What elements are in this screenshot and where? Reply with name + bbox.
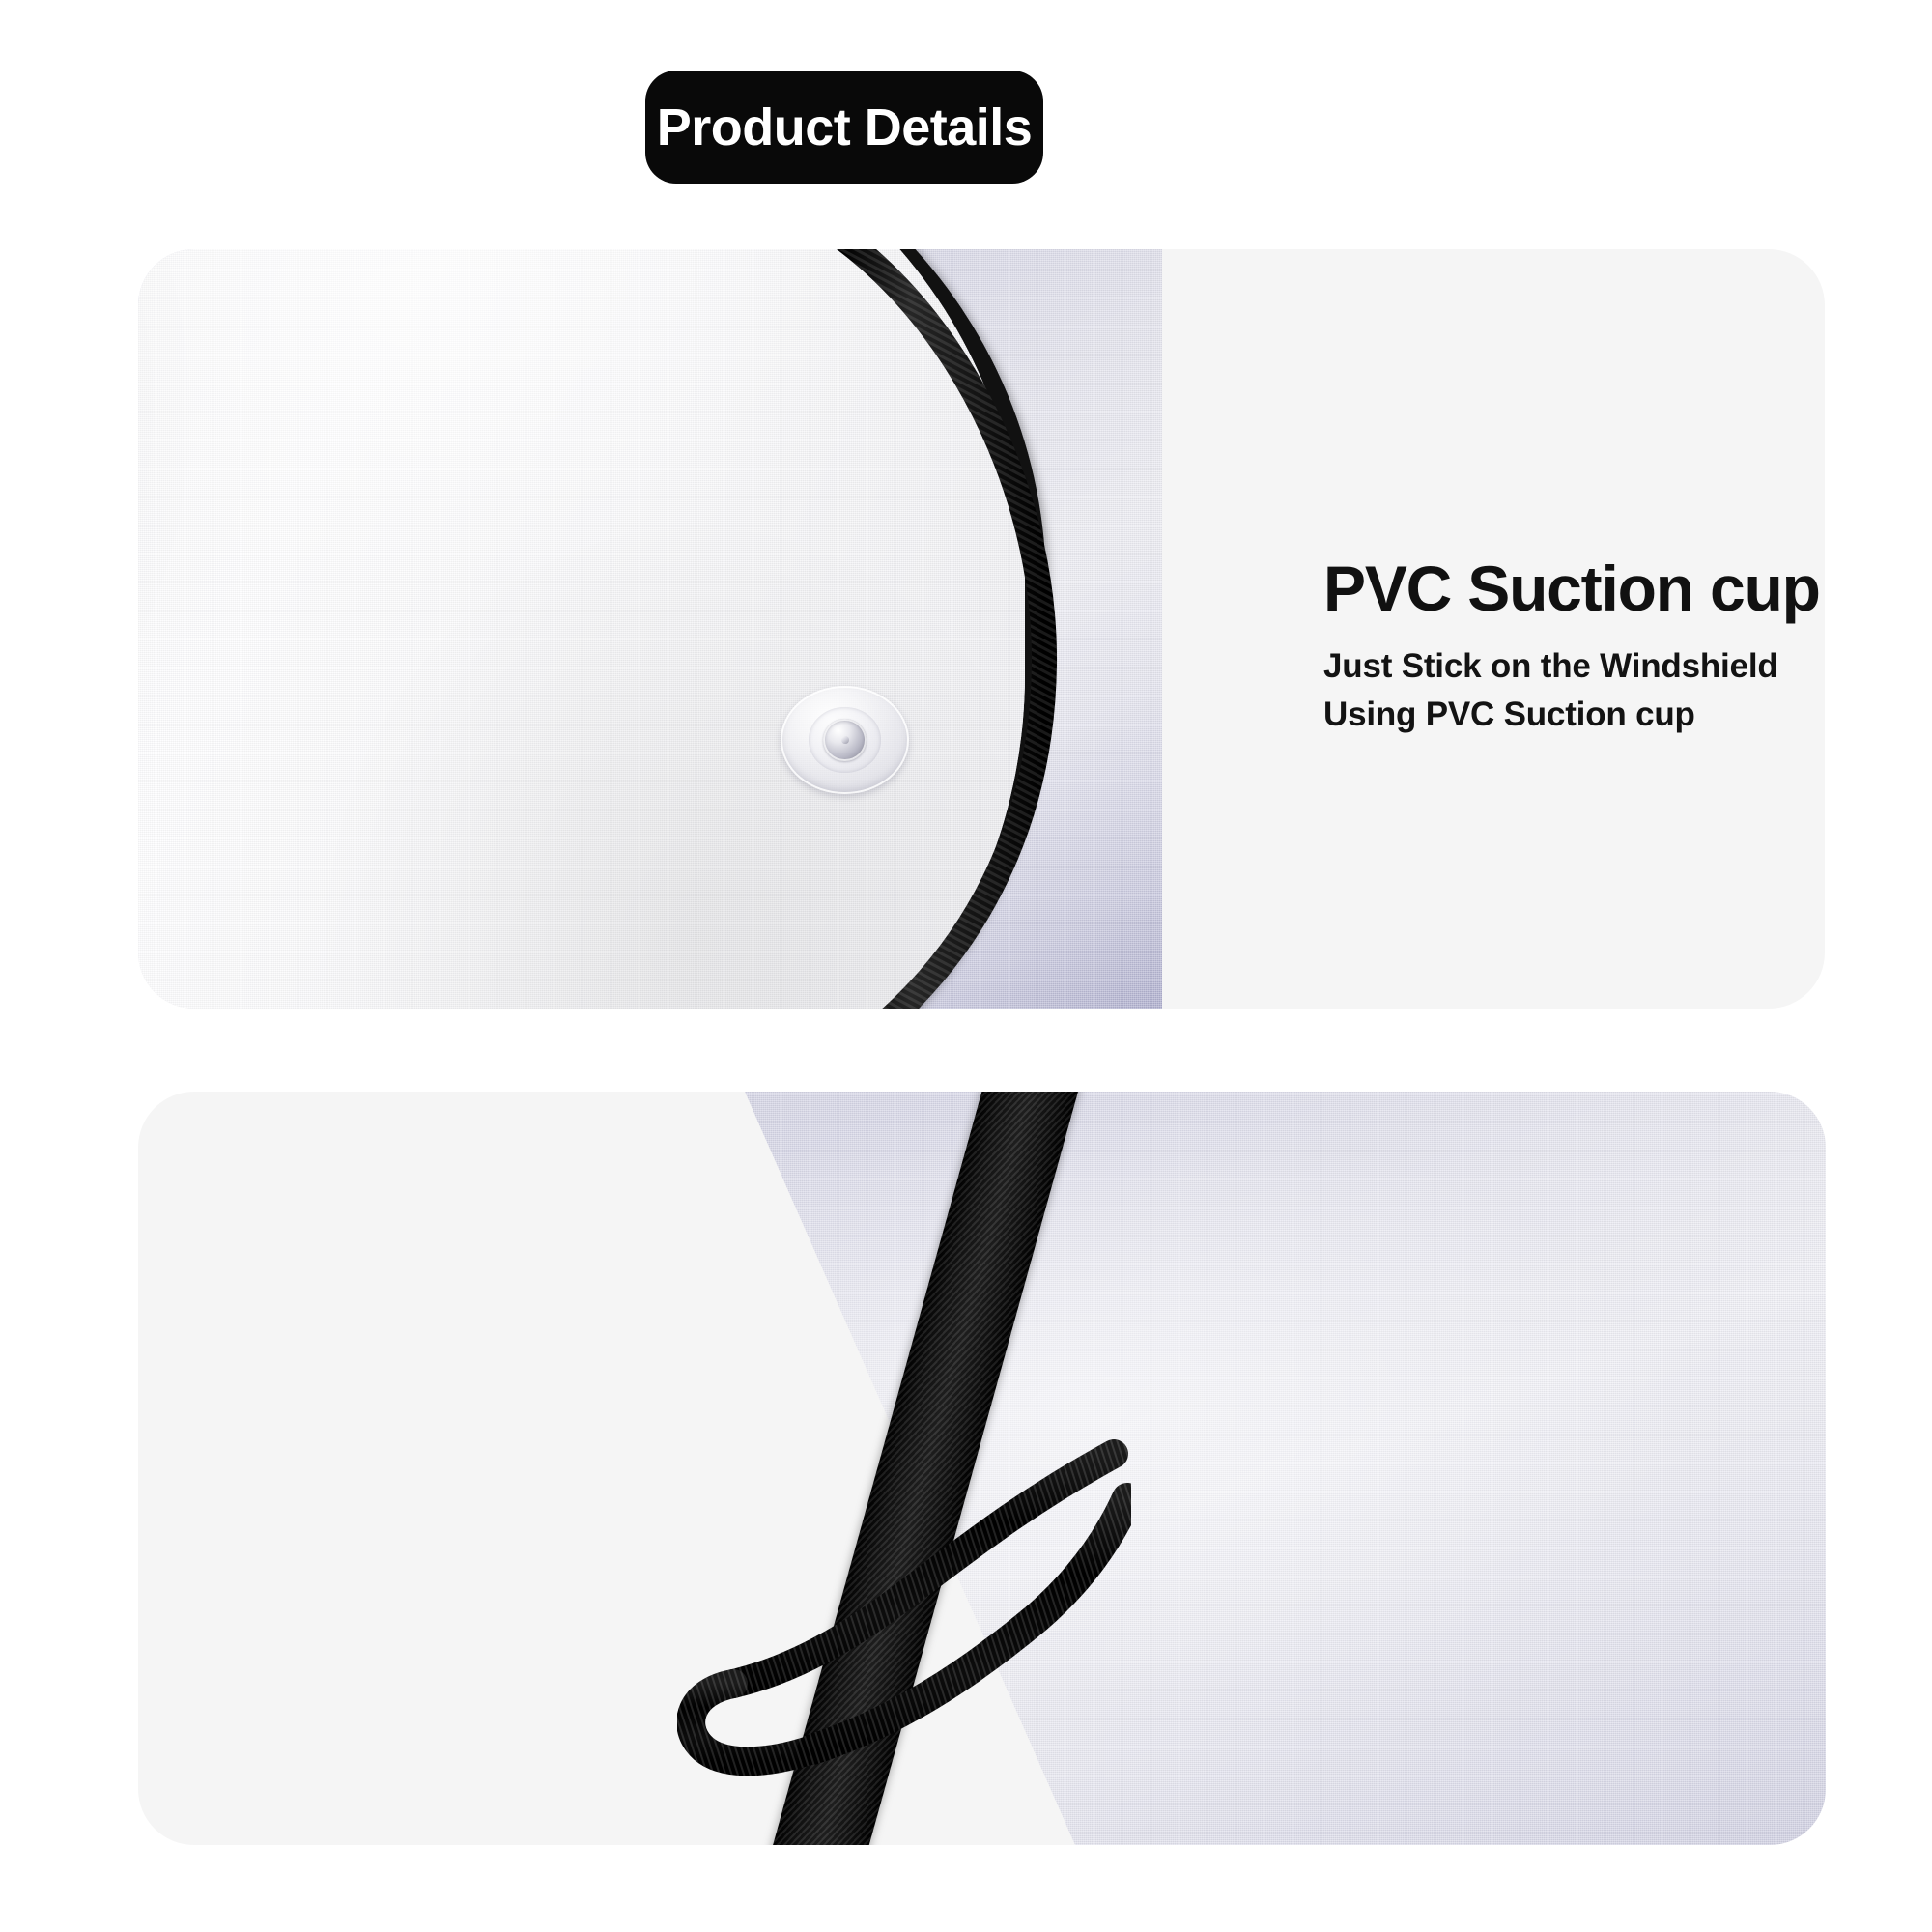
- feature-image-storage-strap: [621, 1092, 1826, 1845]
- sunshade-fabric-folds: [138, 249, 1025, 1009]
- product-details-page: Product Details: [0, 0, 1932, 1932]
- suction-cup-metal-grommet: [823, 719, 867, 762]
- product-details-badge-label: Product Details: [657, 101, 1033, 154]
- product-details-badge: Product Details: [645, 71, 1043, 184]
- feature-card-pvc-suction-cup: PVC Suction cup Just Stick on the Windsh…: [138, 249, 1825, 1009]
- pvc-suction-cup: [781, 686, 909, 794]
- feature-image-pvc-suction-cup: [138, 249, 1162, 1009]
- suction-cup-grommet-core: [841, 736, 849, 745]
- feature-description-line-2: Using PVC Suction cup: [1323, 691, 1825, 739]
- feature-text-pvc-suction-cup: PVC Suction cup Just Stick on the Windsh…: [1323, 555, 1825, 738]
- feature-description-line-1: Just Stick on the Windshield: [1323, 642, 1825, 691]
- fabric-background: [621, 1092, 1826, 1845]
- feature-title: PVC Suction cup: [1323, 555, 1825, 623]
- feature-card-storage-strap: Storage Strap Foldable, Fast and Easy to…: [138, 1092, 1826, 1845]
- sunshade-panel: [138, 249, 1046, 1009]
- feature-description: Just Stick on the Windshield Using PVC S…: [1323, 642, 1825, 738]
- fabric-region: [621, 1092, 1826, 1845]
